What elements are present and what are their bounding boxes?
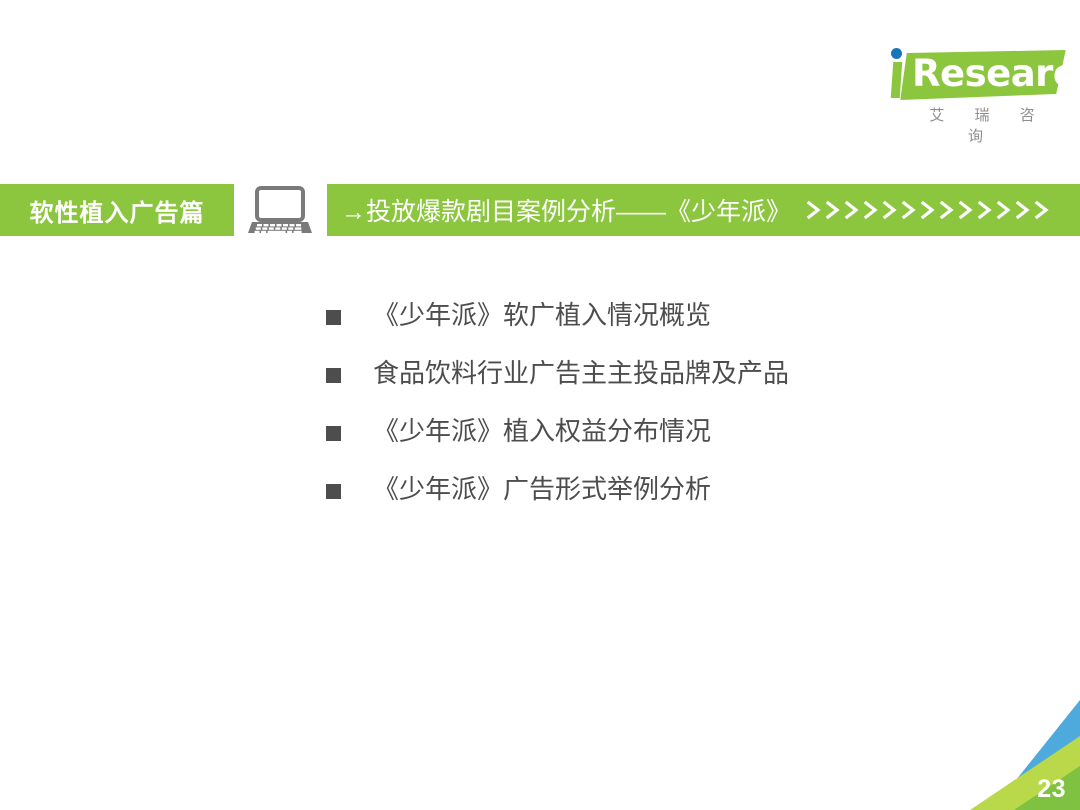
agenda-item[interactable]: 《少年派》植入权益分布情况: [326, 404, 1006, 462]
bullet-square-icon: [326, 426, 341, 441]
chevron-right-icon: [919, 198, 937, 222]
agenda-item[interactable]: 食品饮料行业广告主主投品牌及产品: [326, 346, 1006, 404]
chevron-right-icon: [824, 198, 842, 222]
agenda-item-label: 《少年派》软广植入情况概览: [373, 301, 711, 332]
chevron-right-icon: [881, 198, 899, 222]
bullet-square-icon: [326, 484, 341, 499]
section-header: 软性植入广告篇: [0, 184, 1080, 236]
bullet-square-icon: [326, 368, 341, 383]
laptop-icon: [246, 186, 314, 236]
section-title-bar: →投放爆款剧目案例分析——《少年派》: [327, 184, 1080, 236]
agenda-item-label: 《少年派》广告形式举例分析: [373, 475, 711, 506]
chevron-strip: [805, 198, 1052, 222]
agenda-item-label: 食品饮料行业广告主主投品牌及产品: [373, 359, 789, 390]
chevron-right-icon: [1014, 198, 1032, 222]
logo-i-dot-icon: [891, 48, 902, 59]
logo-i-stem-icon: [891, 62, 903, 98]
agenda-item[interactable]: 《少年派》广告形式举例分析: [326, 462, 1006, 520]
chapter-tag-label: 软性植入广告篇: [30, 193, 205, 228]
chevron-right-icon: [1033, 198, 1051, 222]
agenda-list: 《少年派》软广植入情况概览食品饮料行业广告主主投品牌及产品《少年派》植入权益分布…: [326, 288, 1006, 520]
section-title: →投放爆款剧目案例分析——《少年派》: [327, 192, 791, 228]
logo-mark: Research: [878, 46, 1070, 102]
logo-wordmark: Research: [912, 52, 1062, 96]
chevron-right-icon: [805, 198, 823, 222]
logo-subtitle: 艾 瑞 咨 询: [894, 104, 1070, 146]
agenda-item-label: 《少年派》植入权益分布情况: [373, 417, 711, 448]
agenda-item[interactable]: 《少年派》软广植入情况概览: [326, 288, 1006, 346]
chevron-right-icon: [957, 198, 975, 222]
page-number: 23: [1037, 775, 1066, 804]
chevron-right-icon: [995, 198, 1013, 222]
bullet-square-icon: [326, 310, 341, 325]
chevron-right-icon: [976, 198, 994, 222]
chapter-tag: 软性植入广告篇: [0, 184, 234, 236]
chevron-right-icon: [900, 198, 918, 222]
slide-canvas: Research 艾 瑞 咨 询 软性植入广告篇: [0, 0, 1080, 810]
iresearch-logo: Research 艾 瑞 咨 询: [878, 46, 1070, 136]
chevron-right-icon: [862, 198, 880, 222]
chevron-right-icon: [938, 198, 956, 222]
chevron-right-icon: [843, 198, 861, 222]
